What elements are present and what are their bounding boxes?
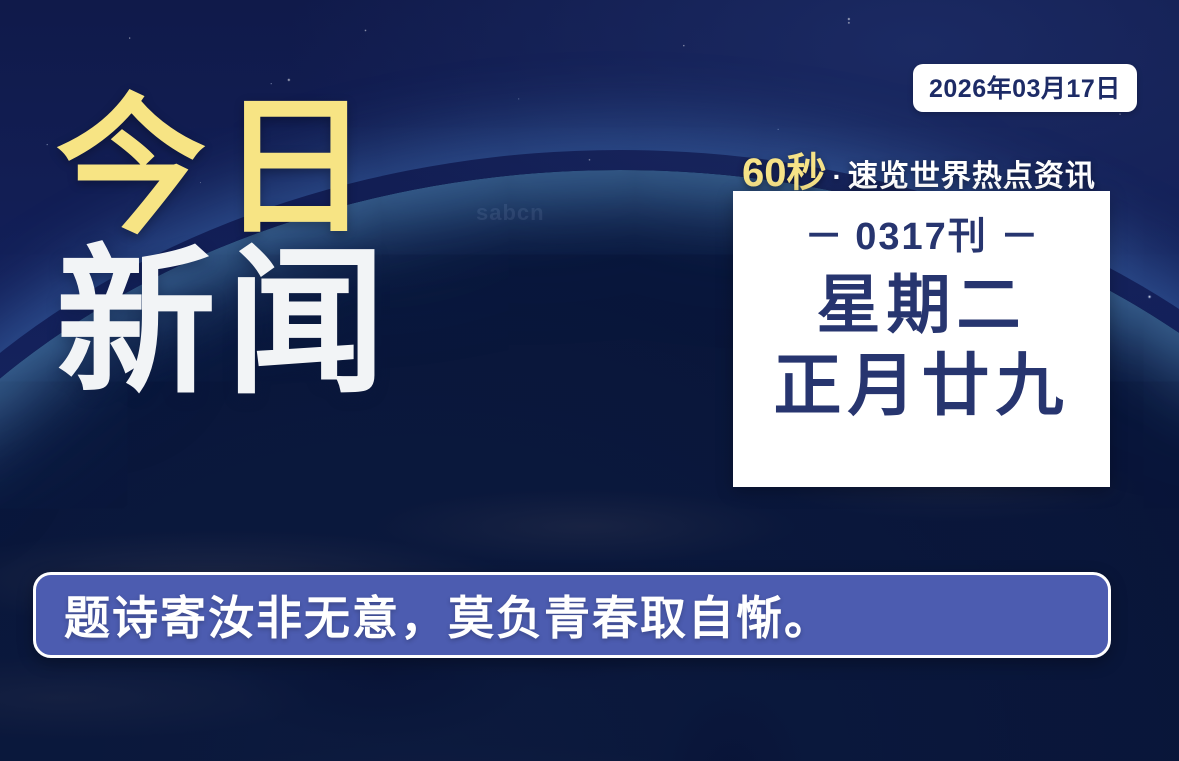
quote-bar: 题诗寄汝非无意，莫负青春取自惭。 bbox=[33, 572, 1111, 658]
page-title: 今日 新闻 bbox=[56, 96, 396, 399]
weekday-label: 星期二 bbox=[817, 272, 1027, 339]
headline-line-news: 新闻 bbox=[56, 247, 396, 399]
issue-info-card: － 0317刊 － 星期二 正月廿九 bbox=[733, 191, 1110, 487]
dash-right: － bbox=[1000, 216, 1038, 258]
dash-left: － bbox=[805, 216, 843, 258]
tagline-description: 速览世界热点资讯 bbox=[848, 151, 1096, 195]
issue-number-row: － 0317刊 － bbox=[805, 205, 1039, 260]
tagline-separator-dot: · bbox=[833, 161, 842, 193]
quote-text: 题诗寄汝非无意，莫负青春取自惭。 bbox=[64, 582, 832, 648]
headline-line-today: 今日 bbox=[56, 96, 396, 239]
tagline: 60秒 · 速览世界热点资讯 bbox=[742, 140, 1096, 198]
tagline-seconds: 60秒 bbox=[742, 140, 827, 198]
lunar-date-label: 正月廿九 bbox=[773, 351, 1069, 422]
news-poster: sabcn 今日 新闻 2026年03月17日 60秒 · 速览世界热点资讯 －… bbox=[0, 0, 1179, 761]
watermark-text: sabcn bbox=[476, 200, 545, 226]
date-badge: 2026年03月17日 bbox=[913, 64, 1137, 112]
issue-number: 0317刊 bbox=[855, 216, 988, 258]
